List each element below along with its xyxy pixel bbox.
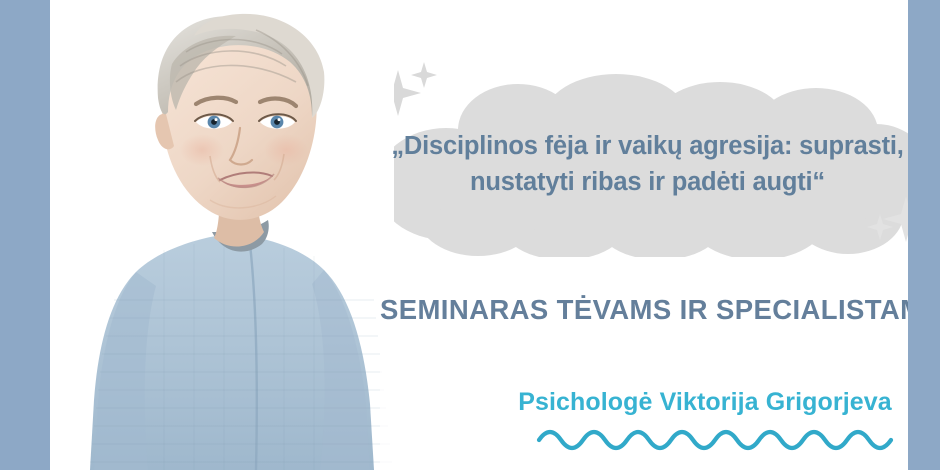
portrait-illustration xyxy=(44,0,394,470)
wavy-line-icon xyxy=(535,420,935,454)
left-accent-bar xyxy=(0,0,50,470)
presenter-name: Psichologė Viktorija Grigorjeva xyxy=(500,388,910,417)
seminar-subtitle: SEMINARAS TĖVAMS IR SPECIALISTAMS xyxy=(380,294,910,326)
seminar-promo-banner: „Disciplinos fėja ir vaikų agresija: sup… xyxy=(0,0,940,470)
wave-underline xyxy=(535,420,935,454)
title-line-1: „Disciplinos fėja ir vaikų agresija: sup… xyxy=(385,128,910,164)
right-accent-bar xyxy=(908,0,940,470)
presenter-portrait xyxy=(44,0,394,470)
title-line-2: nustatyti ribas ir padėti augti“ xyxy=(385,164,910,200)
seminar-title: „Disciplinos fėja ir vaikų agresija: sup… xyxy=(385,128,910,200)
